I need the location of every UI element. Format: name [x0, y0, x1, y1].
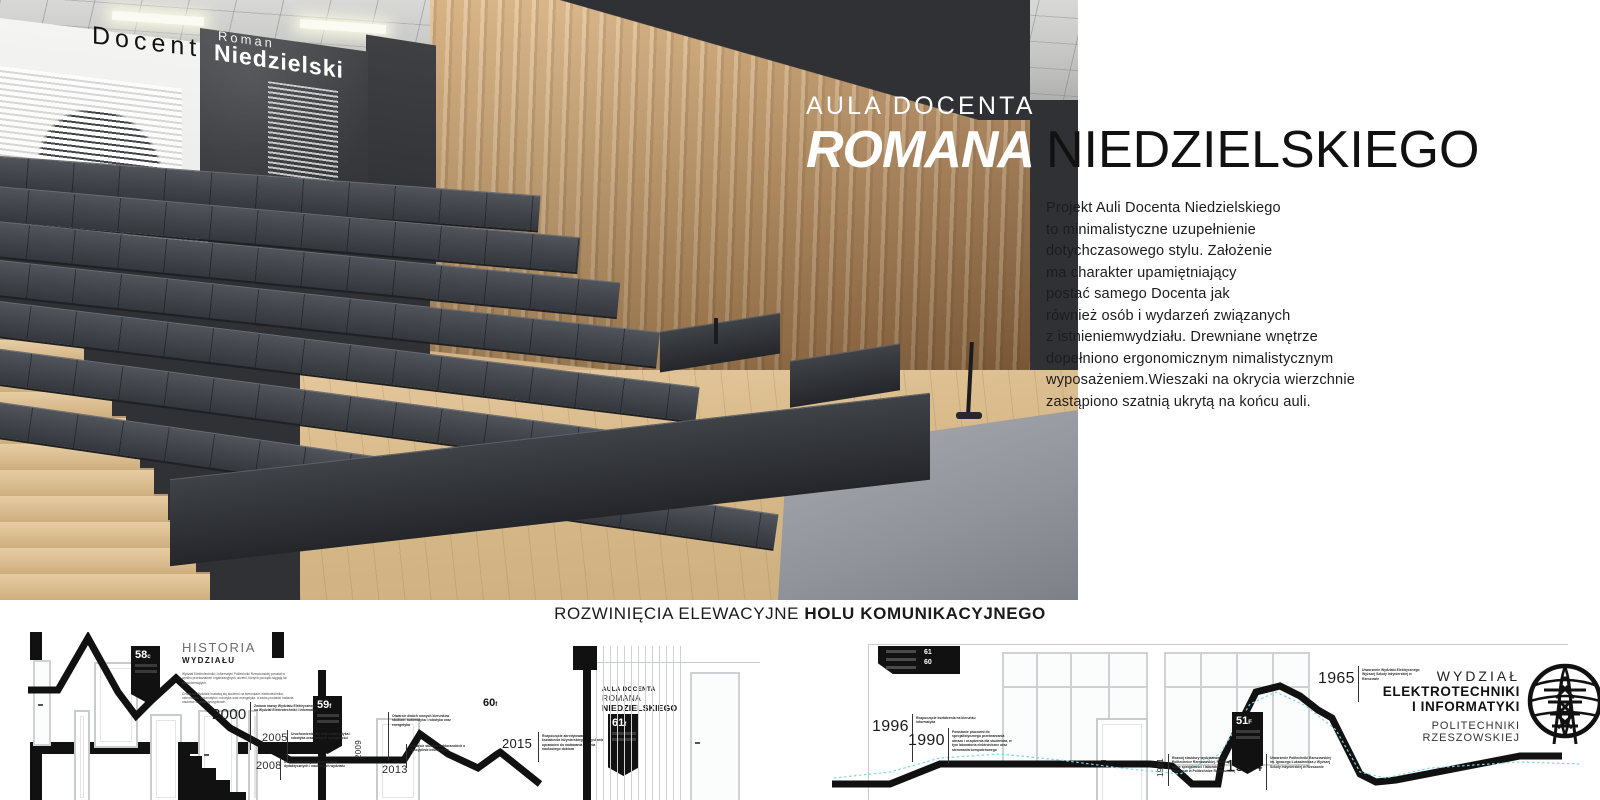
description-line: to minimalistyczne uzupełnienie [1046, 220, 1396, 242]
microphone-base [956, 412, 982, 419]
room-letter: F [1248, 720, 1252, 726]
timeline-note: Rozpoczęcie kształcenia na kierunku info… [916, 716, 980, 725]
logo-line-politechniki: POLITECHNIKI [1340, 720, 1520, 732]
elevations-section: ROZWINIĘCIA ELEWACYJNE HOLU KOMUNIKACYJN… [0, 600, 1600, 800]
lecture-hall-photo: Docent Roman Niedzielski [0, 0, 1078, 600]
description-line: z istnieniemwydziału. Drewniane wnętrze [1046, 327, 1396, 349]
timeline-year: 2009 [354, 740, 363, 759]
timeline-year: 2015 [502, 736, 532, 751]
timeline-note: Zmiana nazwy Wydziału Elektrycznego na W… [254, 704, 318, 713]
logo-line-rzeszowskiej: RZESZOWSKIEJ [1340, 732, 1520, 744]
history-block: HISTORIA WYDZIAŁU Wydział Elektrotechnik… [182, 640, 294, 705]
timeline-note: Utworzenie nowych laboratoriów dydaktycz… [284, 760, 348, 769]
description-line: postać samego Docenta jak [1046, 284, 1396, 306]
description-line: wyposażeniem.Wieszaki na okrycia wierzch… [1046, 370, 1396, 392]
hero-description: Projekt Auli Docenta Niedzielskiego to m… [1046, 198, 1396, 413]
glazing-panel [690, 672, 740, 800]
history-paragraph: Dzisiaj na Wydziale kształcą się studenc… [182, 692, 294, 705]
timeline-note: Utworzenie Politechniki Rzeszowskiej im.… [1270, 756, 1334, 769]
microphone-stem [714, 318, 718, 344]
timeline-year: 2013 [382, 764, 408, 776]
history-title: HISTORIA [182, 640, 294, 655]
timeline-year: 2005 [262, 732, 288, 744]
room-letter: f [495, 702, 497, 708]
hero-title-plain: NIEDZIELSKIEGO [1046, 121, 1479, 179]
elevation-drawing-right: 61 60 [820, 632, 1600, 800]
banner-prefix: ROZWINIĘCIA ELEWACYJNE [554, 604, 804, 623]
history-subtitle: WYDZIAŁU [182, 656, 294, 665]
room-number: 58 [135, 649, 147, 661]
description-line: ma charakter upamiętniający [1046, 263, 1396, 285]
history-paragraph: Wydział Elektrotechniki i Informatyki Po… [182, 672, 294, 685]
timeline-note: Otwarcie studiów doktoranckich o dyscypl… [410, 744, 474, 753]
timeline-note: Otwarcie dwóch nowych kierunków studiów:… [392, 714, 456, 727]
elevations-banner: ROZWINIĘCIA ELEWACYJNE HOLU KOMUNIKACYJN… [0, 604, 1600, 624]
room-letter: f [329, 704, 331, 710]
description-line: dotychczasowego stylu. Założenie [1046, 241, 1396, 263]
room-tag: 58c [131, 646, 160, 702]
timeline-year: 1990 [908, 732, 945, 750]
column-cap [573, 646, 597, 670]
timeline-year: 1996 [872, 718, 909, 736]
description-line: również osób i wydarzeń związanych [1046, 306, 1396, 328]
pylon-globe-icon [1526, 656, 1600, 746]
description-line: Projekt Auli Docenta Niedzielskiego [1046, 198, 1396, 220]
room-number: 51 [1236, 715, 1248, 727]
timeline-note: Powstanie pracowni do specjalistycznego … [952, 730, 1016, 752]
wood-top-edge [430, 0, 1030, 120]
logo-line-elektrotechniki: ELEKTROTECHNIKI [1340, 684, 1520, 699]
poster-board: Docent Roman Niedzielski [0, 0, 1600, 800]
description-line: dopełniono ergonomicznym nimalistycznym [1046, 349, 1396, 371]
timeline-note: Uruchomienie kierunku automatyka i robot… [291, 732, 355, 741]
room-number: 59 [317, 699, 329, 711]
room-letter: c [147, 654, 150, 660]
banner-emphasis: HOLU KOMUNIKACYJNEGO [804, 604, 1046, 623]
room-tag: 51F [1232, 712, 1263, 774]
timeline-year: 2008 [256, 760, 282, 772]
timeline-year: 2000 [212, 706, 247, 723]
logo-line-informatyki: I INFORMATYKI [1340, 699, 1520, 714]
description-line: zastąpiono szatnią ukrytą na końcu auli. [1046, 392, 1396, 414]
room-number: 60 [483, 697, 495, 709]
timeline-year: 1981 [1156, 758, 1165, 777]
logo-line-wydzial: WYDZIAŁ [1340, 668, 1520, 684]
hero-section: Docent Roman Niedzielski [0, 0, 1600, 600]
slat-hatching [596, 646, 682, 800]
elevation-drawing-left: HISTORIA WYDZIAŁU Wydział Elektrotechnik… [0, 632, 760, 800]
faculty-logo: WYDZIAŁ ELEKTROTECHNIKI I INFORMATYKI PO… [1340, 668, 1520, 744]
